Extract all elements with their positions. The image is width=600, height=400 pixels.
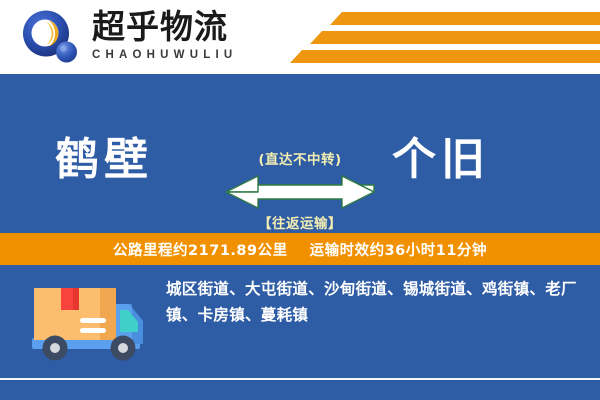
main-panel: 鹤壁 (直达不中转) 【往返运输】 个旧 公路里程约2171.89: [0, 74, 600, 400]
coverage-area-text: 城区街道、大屯街道、沙甸街道、锡城街道、鸡街镇、老厂镇、卡房镇、蔓耗镇: [166, 276, 584, 328]
coverage-section: 城区街道、大屯街道、沙甸街道、锡城街道、鸡街镇、老厂镇、卡房镇、蔓耗镇: [0, 270, 600, 366]
header-bar: 超乎物流 CHAOHUWULIU: [0, 0, 600, 72]
delivery-truck-icon: [28, 274, 153, 366]
circle-crescent-logo-icon: [22, 10, 80, 64]
bottom-divider: [0, 378, 600, 380]
brand-block: 超乎物流 CHAOHUWULIU: [92, 8, 272, 66]
origin-city: 鹤壁: [55, 132, 153, 188]
brand-name-cn: 超乎物流: [92, 8, 272, 46]
route-row: 鹤壁 (直达不中转) 【往返运输】 个旧: [0, 108, 600, 228]
roundtrip-label: 【往返运输】: [220, 212, 380, 232]
duration-text: 运输时效约36小时11分钟: [310, 239, 487, 260]
route-arrow-group: (直达不中转) 【往返运输】: [220, 108, 380, 228]
header-stripe-2: [310, 31, 600, 44]
info-bar: 公路里程约2171.89公里 运输时效约36小时11分钟: [0, 233, 600, 265]
destination-city: 个旧: [392, 132, 490, 188]
distance-text: 公路里程约2171.89公里: [113, 239, 288, 260]
header-stripe-3: [290, 50, 600, 63]
brand-name-en: CHAOHUWULIU: [92, 47, 272, 63]
direct-service-label: (直达不中转): [220, 148, 380, 168]
header-stripe-1: [330, 12, 600, 25]
logistics-route-banner: 超乎物流 CHAOHUWULIU 鹤壁 (直达不中转): [0, 0, 600, 400]
